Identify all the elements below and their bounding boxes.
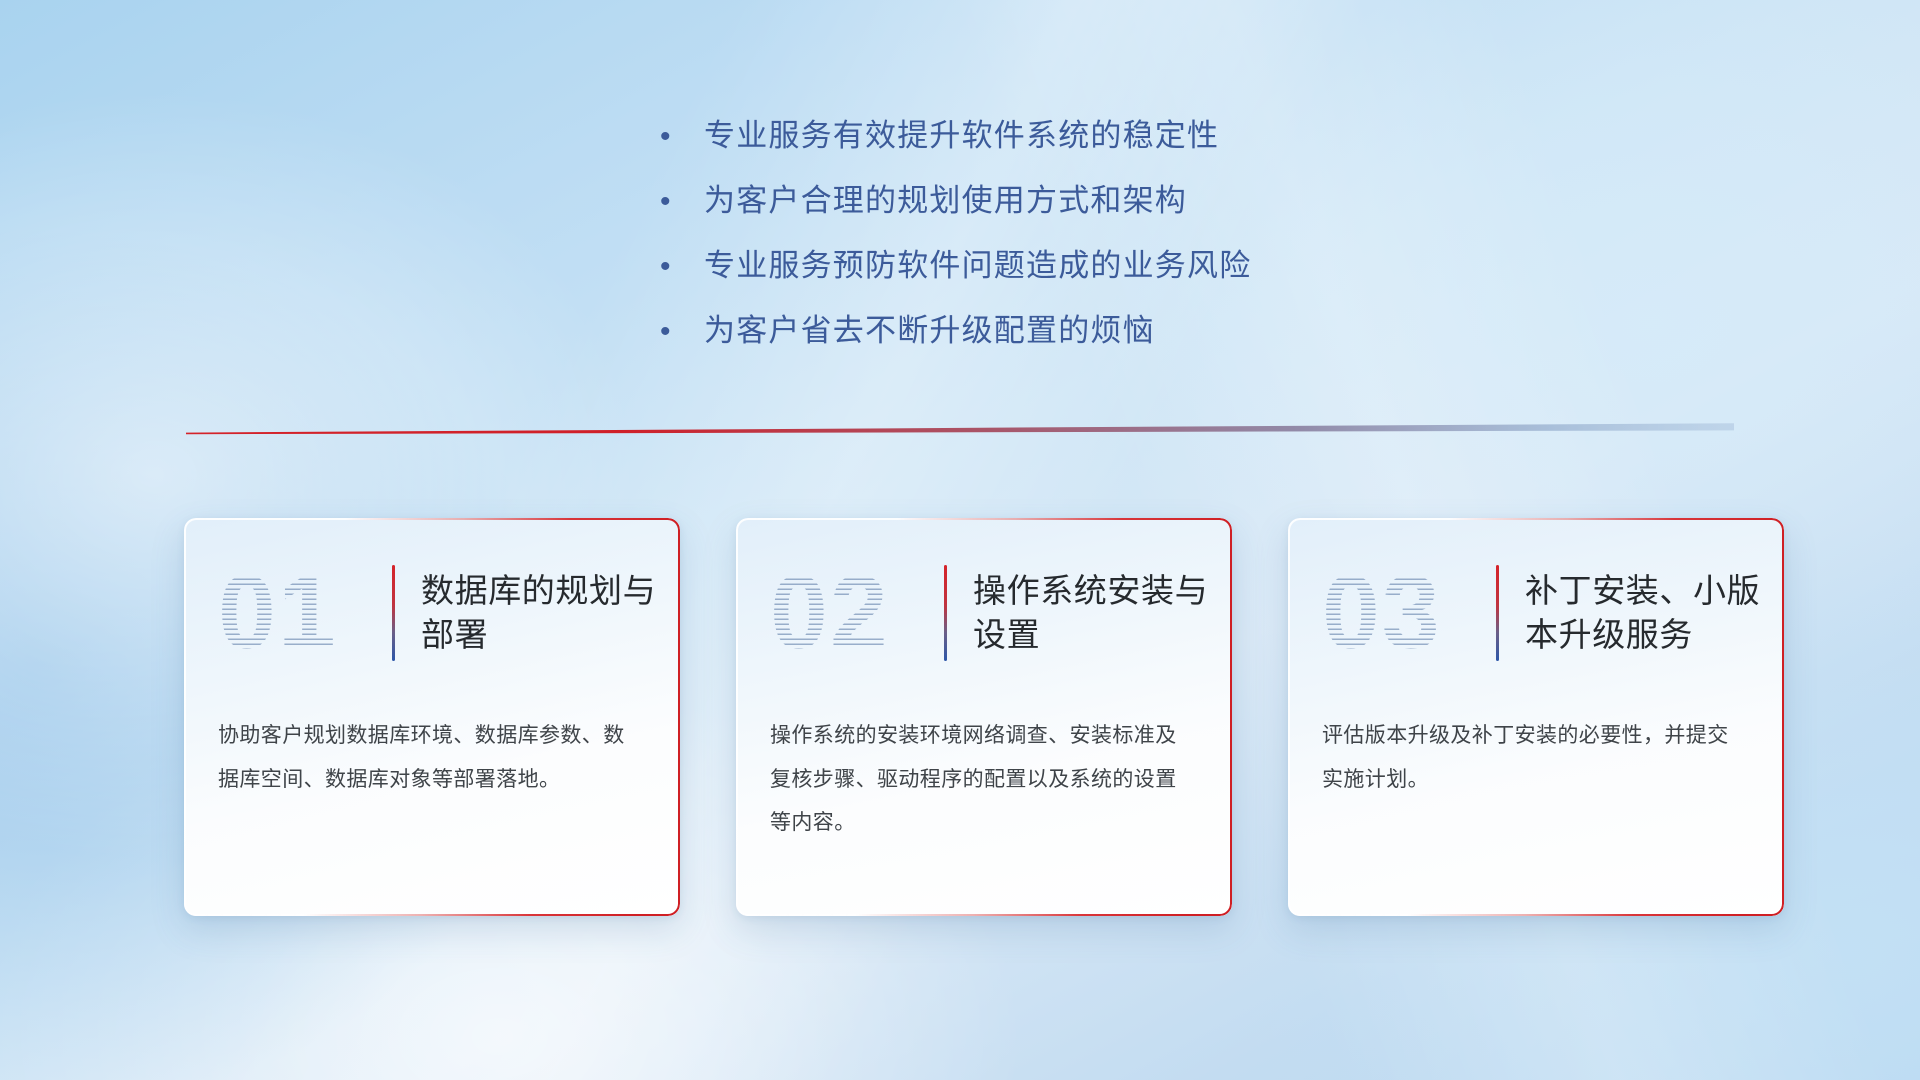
service-card[interactable]: 02 操作系统安装与设置 操作系统的安装环境网络调查、安装标准及复核步骤、驱动程… bbox=[736, 518, 1232, 916]
card-description: 协助客户规划数据库环境、数据库参数、数据库空间、数据库对象等部署落地。 bbox=[184, 708, 680, 801]
card-number-watermark: 03 bbox=[1322, 561, 1492, 665]
card-title: 数据库的规划与部署 bbox=[421, 569, 671, 657]
card-header: 01 数据库的规划与部署 bbox=[184, 518, 680, 708]
card-header: 02 操作系统安装与设置 bbox=[736, 518, 1232, 708]
card-description: 评估版本升级及补丁安装的必要性，并提交实施计划。 bbox=[1288, 708, 1784, 801]
card-accent-rule bbox=[392, 565, 395, 661]
card-accent-rule bbox=[944, 565, 947, 661]
bullet-dot-icon: • bbox=[660, 252, 704, 282]
card-number-watermark: 01 bbox=[218, 561, 388, 665]
list-item: • 专业服务预防软件问题造成的业务风险 bbox=[660, 240, 1251, 305]
service-card[interactable]: 03 补丁安装、小版本升级服务 评估版本升级及补丁安装的必要性，并提交实施计划。 bbox=[1288, 518, 1784, 916]
bullet-text: 专业服务预防软件问题造成的业务风险 bbox=[704, 240, 1251, 285]
list-item: • 专业服务有效提升软件系统的稳定性 bbox=[660, 110, 1251, 175]
benefits-bullet-list: • 专业服务有效提升软件系统的稳定性 • 为客户合理的规划使用方式和架构 • 专… bbox=[660, 110, 1251, 370]
bullet-dot-icon: • bbox=[660, 122, 704, 152]
service-card-row: 01 数据库的规划与部署 协助客户规划数据库环境、数据库参数、数据库空间、数据库… bbox=[184, 518, 1784, 918]
card-description: 操作系统的安装环境网络调查、安装标准及复核步骤、驱动程序的配置以及系统的设置等内… bbox=[736, 708, 1232, 845]
card-number-watermark: 02 bbox=[770, 561, 940, 665]
card-title: 操作系统安装与设置 bbox=[973, 569, 1223, 657]
list-item: • 为客户省去不断升级配置的烦恼 bbox=[660, 305, 1251, 370]
bullet-dot-icon: • bbox=[660, 317, 704, 347]
bullet-text: 为客户省去不断升级配置的烦恼 bbox=[704, 305, 1155, 350]
bullet-dot-icon: • bbox=[660, 187, 704, 217]
section-divider bbox=[186, 420, 1734, 438]
card-header: 03 补丁安装、小版本升级服务 bbox=[1288, 518, 1784, 708]
bullet-text: 为客户合理的规划使用方式和架构 bbox=[704, 175, 1187, 220]
bullet-text: 专业服务有效提升软件系统的稳定性 bbox=[704, 110, 1219, 155]
slide-canvas: • 专业服务有效提升软件系统的稳定性 • 为客户合理的规划使用方式和架构 • 专… bbox=[0, 0, 1920, 1080]
service-card[interactable]: 01 数据库的规划与部署 协助客户规划数据库环境、数据库参数、数据库空间、数据库… bbox=[184, 518, 680, 916]
list-item: • 为客户合理的规划使用方式和架构 bbox=[660, 175, 1251, 240]
card-title: 补丁安装、小版本升级服务 bbox=[1525, 569, 1775, 657]
card-accent-rule bbox=[1496, 565, 1499, 661]
